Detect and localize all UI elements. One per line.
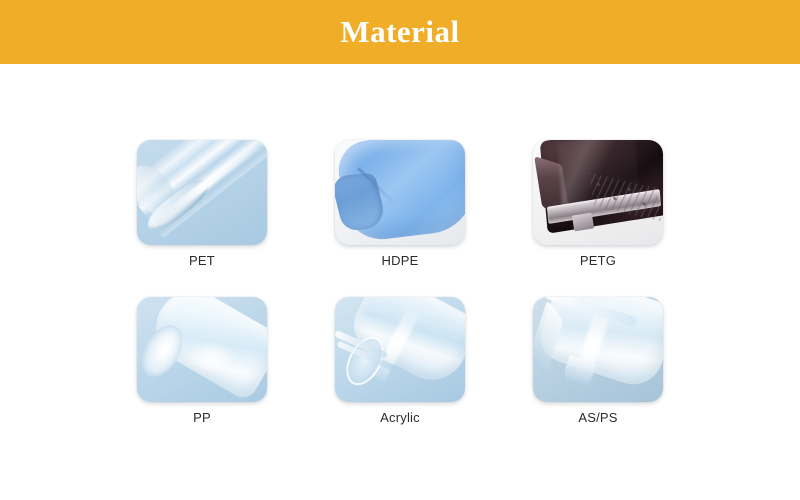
as-ps-clear-block-photo[interactable] — [533, 297, 663, 402]
material-grid-row: PP Acrylic — [0, 297, 800, 425]
pet-roll-shape — [137, 140, 267, 245]
pp-image-inner — [137, 297, 267, 402]
as-ps-image-inner — [533, 297, 663, 402]
page-title: Material — [340, 16, 459, 49]
petg-corner-foot-shape — [572, 213, 594, 232]
petg-image-inner — [533, 140, 663, 245]
material-cell-hdpe[interactable]: HDPE — [301, 140, 499, 268]
header-bar: Material — [0, 0, 800, 64]
material-label-as-ps: AS/PS — [578, 411, 617, 425]
material-label-petg: PETG — [580, 254, 616, 268]
pet-image-inner — [137, 140, 267, 245]
hdpe-blue-plastic-photo[interactable] — [335, 140, 465, 245]
material-cell-petg[interactable]: PETG — [499, 140, 697, 268]
material-cell-pp[interactable]: PP — [103, 297, 301, 425]
material-cell-as-ps[interactable]: AS/PS — [499, 297, 697, 425]
acrylic-image-inner — [335, 297, 465, 402]
material-cell-acrylic[interactable]: Acrylic — [301, 297, 499, 425]
material-cell-pet[interactable]: PET — [103, 140, 301, 268]
material-label-pp: PP — [193, 411, 211, 425]
hdpe-image-inner — [335, 140, 465, 245]
material-label-acrylic: Acrylic — [380, 411, 420, 425]
acrylic-clear-tube-photo[interactable] — [335, 297, 465, 402]
material-grid: PET HDPE — [0, 140, 800, 426]
petg-dark-glossy-box-photo[interactable] — [533, 140, 663, 245]
pp-frosted-roll-photo[interactable] — [137, 297, 267, 402]
pet-film-roll-photo[interactable] — [137, 140, 267, 245]
material-label-hdpe: HDPE — [382, 254, 419, 268]
material-grid-row: PET HDPE — [0, 140, 800, 268]
material-label-pet: PET — [189, 254, 215, 268]
